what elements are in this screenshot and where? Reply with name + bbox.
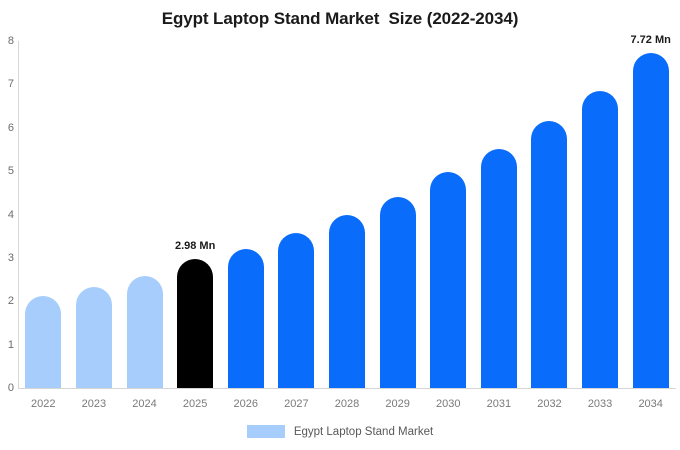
bar-rect-2031[interactable] (481, 149, 517, 388)
bar-rect-2030[interactable] (430, 172, 466, 388)
bar-rect-2034[interactable] (633, 53, 669, 388)
x-axis-tick-label-2028: 2028 (322, 398, 372, 410)
bar-rect-2024[interactable] (127, 276, 163, 388)
x-axis-tick-label-2033: 2033 (575, 398, 625, 410)
x-axis-tick-label-2023: 2023 (69, 398, 119, 410)
bar-rect-2029[interactable] (380, 197, 416, 388)
bar-2027[interactable] (278, 41, 314, 388)
x-axis-tick-label-2026: 2026 (221, 398, 271, 410)
bar-2028[interactable] (329, 41, 365, 388)
bar-2029[interactable] (380, 41, 416, 388)
plot-area (18, 41, 676, 388)
chart-legend: Egypt Laptop Stand Market (0, 425, 680, 438)
x-axis-tick-label-2025: 2025 (170, 398, 220, 410)
bar-2033[interactable] (582, 41, 618, 388)
bar-rect-2028[interactable] (329, 215, 365, 388)
y-axis-tick-label: 0 (0, 383, 14, 394)
x-axis-tick-label-2030: 2030 (423, 398, 473, 410)
y-axis-tick-label: 3 (0, 253, 14, 264)
bar-value-label-2034: 7.72 Mn (606, 34, 680, 46)
bar-rect-2027[interactable] (278, 233, 314, 388)
bar-2025[interactable] (177, 41, 213, 388)
y-axis-tick-label: 6 (0, 123, 14, 134)
bar-2031[interactable] (481, 41, 517, 388)
bar-rect-2032[interactable] (531, 121, 567, 388)
x-axis-tick-label-2034: 2034 (626, 398, 676, 410)
bar-rect-2026[interactable] (228, 249, 264, 388)
bar-rect-2033[interactable] (582, 91, 618, 388)
bar-value-label-2025: 2.98 Mn (150, 240, 240, 252)
x-axis-tick-label-2031: 2031 (474, 398, 524, 410)
bar-rect-2022[interactable] (25, 296, 61, 388)
y-axis-tick-label: 5 (0, 166, 14, 177)
bar-2022[interactable] (25, 41, 61, 388)
legend-swatch-egypt-laptop-stand-market (247, 425, 285, 438)
chart-title: Egypt Laptop Stand Market Size (2022-203… (0, 9, 680, 29)
bar-rect-2023[interactable] (76, 287, 112, 388)
x-axis-line (18, 388, 676, 389)
bar-2024[interactable] (127, 41, 163, 388)
bar-rect-2025[interactable] (177, 259, 213, 388)
legend-label-egypt-laptop-stand-market: Egypt Laptop Stand Market (294, 426, 433, 438)
y-axis-tick-label: 4 (0, 210, 14, 221)
x-axis-tick-label-2032: 2032 (524, 398, 574, 410)
x-axis-tick-label-2027: 2027 (271, 398, 321, 410)
bar-2030[interactable] (430, 41, 466, 388)
chart-container: Egypt Laptop Stand Market Size (2022-203… (0, 0, 680, 450)
x-axis-tick-label-2022: 2022 (18, 398, 68, 410)
bar-2032[interactable] (531, 41, 567, 388)
y-axis-tick-label: 2 (0, 296, 14, 307)
y-axis-tick-label: 8 (0, 36, 14, 47)
x-axis-tick-label-2029: 2029 (373, 398, 423, 410)
x-axis-tick-label-2024: 2024 (120, 398, 170, 410)
y-axis-tick-labels: 012345678 (0, 0, 14, 450)
bar-2023[interactable] (76, 41, 112, 388)
y-axis-tick-label: 1 (0, 340, 14, 351)
bar-2026[interactable] (228, 41, 264, 388)
bar-2034[interactable] (633, 41, 669, 388)
y-axis-tick-label: 7 (0, 79, 14, 90)
